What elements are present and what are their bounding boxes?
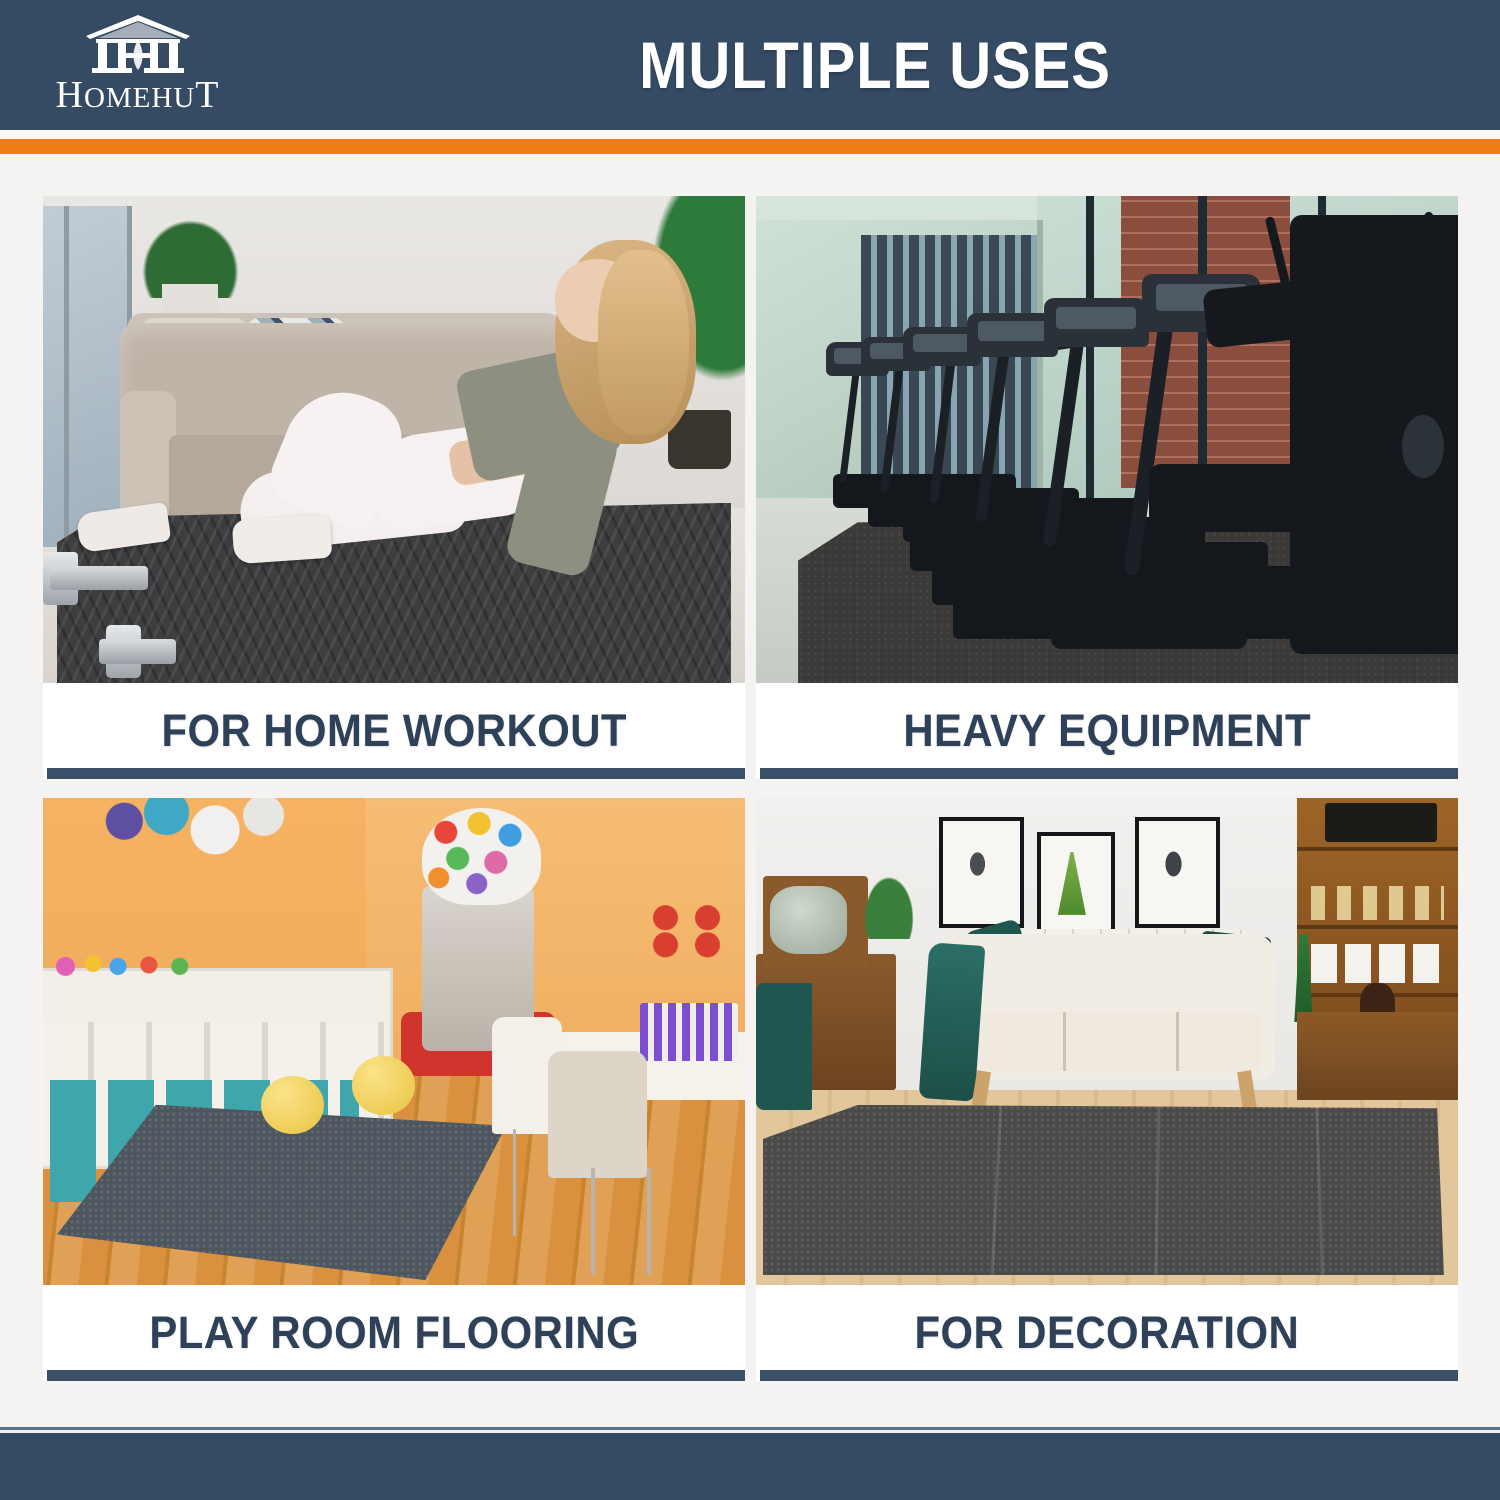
page-footer xyxy=(0,1433,1500,1500)
caption-decoration: FOR DECORATION xyxy=(756,1285,1458,1381)
brand-wordmark: HOMEHUT xyxy=(55,76,219,114)
caption-home-workout: FOR HOME WORKOUT xyxy=(43,683,745,779)
brand-wordmark-omehu: OMEHU xyxy=(84,82,195,114)
brand-wordmark-h: H xyxy=(55,74,83,116)
use-card-heavy-equipment[interactable]: HEAVY EQUIPMENT xyxy=(756,196,1458,779)
photo-heavy-equipment xyxy=(756,196,1458,683)
card-underline xyxy=(760,1370,1458,1381)
card-underline xyxy=(47,768,745,779)
caption-heavy-equipment: HEAVY EQUIPMENT xyxy=(756,683,1458,779)
page-title: MULTIPLE USES xyxy=(325,0,1425,130)
caption-text: FOR DECORATION xyxy=(915,1307,1300,1359)
photo-home-workout xyxy=(43,196,745,683)
caption-text: HEAVY EQUIPMENT xyxy=(903,705,1311,757)
use-card-decoration[interactable]: FOR DECORATION xyxy=(756,798,1458,1381)
house-columns-monogram-icon xyxy=(78,12,198,74)
use-card-home-workout[interactable]: FOR HOME WORKOUT xyxy=(43,196,745,779)
foam-mat xyxy=(763,1105,1444,1275)
photo-play-room xyxy=(43,798,745,1285)
use-card-play-room[interactable]: PLAY ROOM FLOORING xyxy=(43,798,745,1381)
caption-text: PLAY ROOM FLOORING xyxy=(149,1307,639,1359)
brand-logo: HOMEHUT xyxy=(30,12,245,120)
card-underline xyxy=(47,1370,745,1381)
page-header: HOMEHUT MULTIPLE USES xyxy=(0,0,1500,130)
caption-play-room: PLAY ROOM FLOORING xyxy=(43,1285,745,1381)
header-orange-stripe xyxy=(0,139,1500,154)
footer-hairline xyxy=(0,1427,1500,1430)
photo-decoration xyxy=(756,798,1458,1285)
brand-wordmark-t: T xyxy=(195,74,219,116)
card-underline xyxy=(760,768,1458,779)
product-infographic-page: HOMEHUT MULTIPLE USES xyxy=(0,0,1500,1500)
caption-text: FOR HOME WORKOUT xyxy=(161,705,626,757)
uses-grid: FOR HOME WORKOUT xyxy=(43,196,1458,1381)
header-white-rule xyxy=(0,130,1500,139)
